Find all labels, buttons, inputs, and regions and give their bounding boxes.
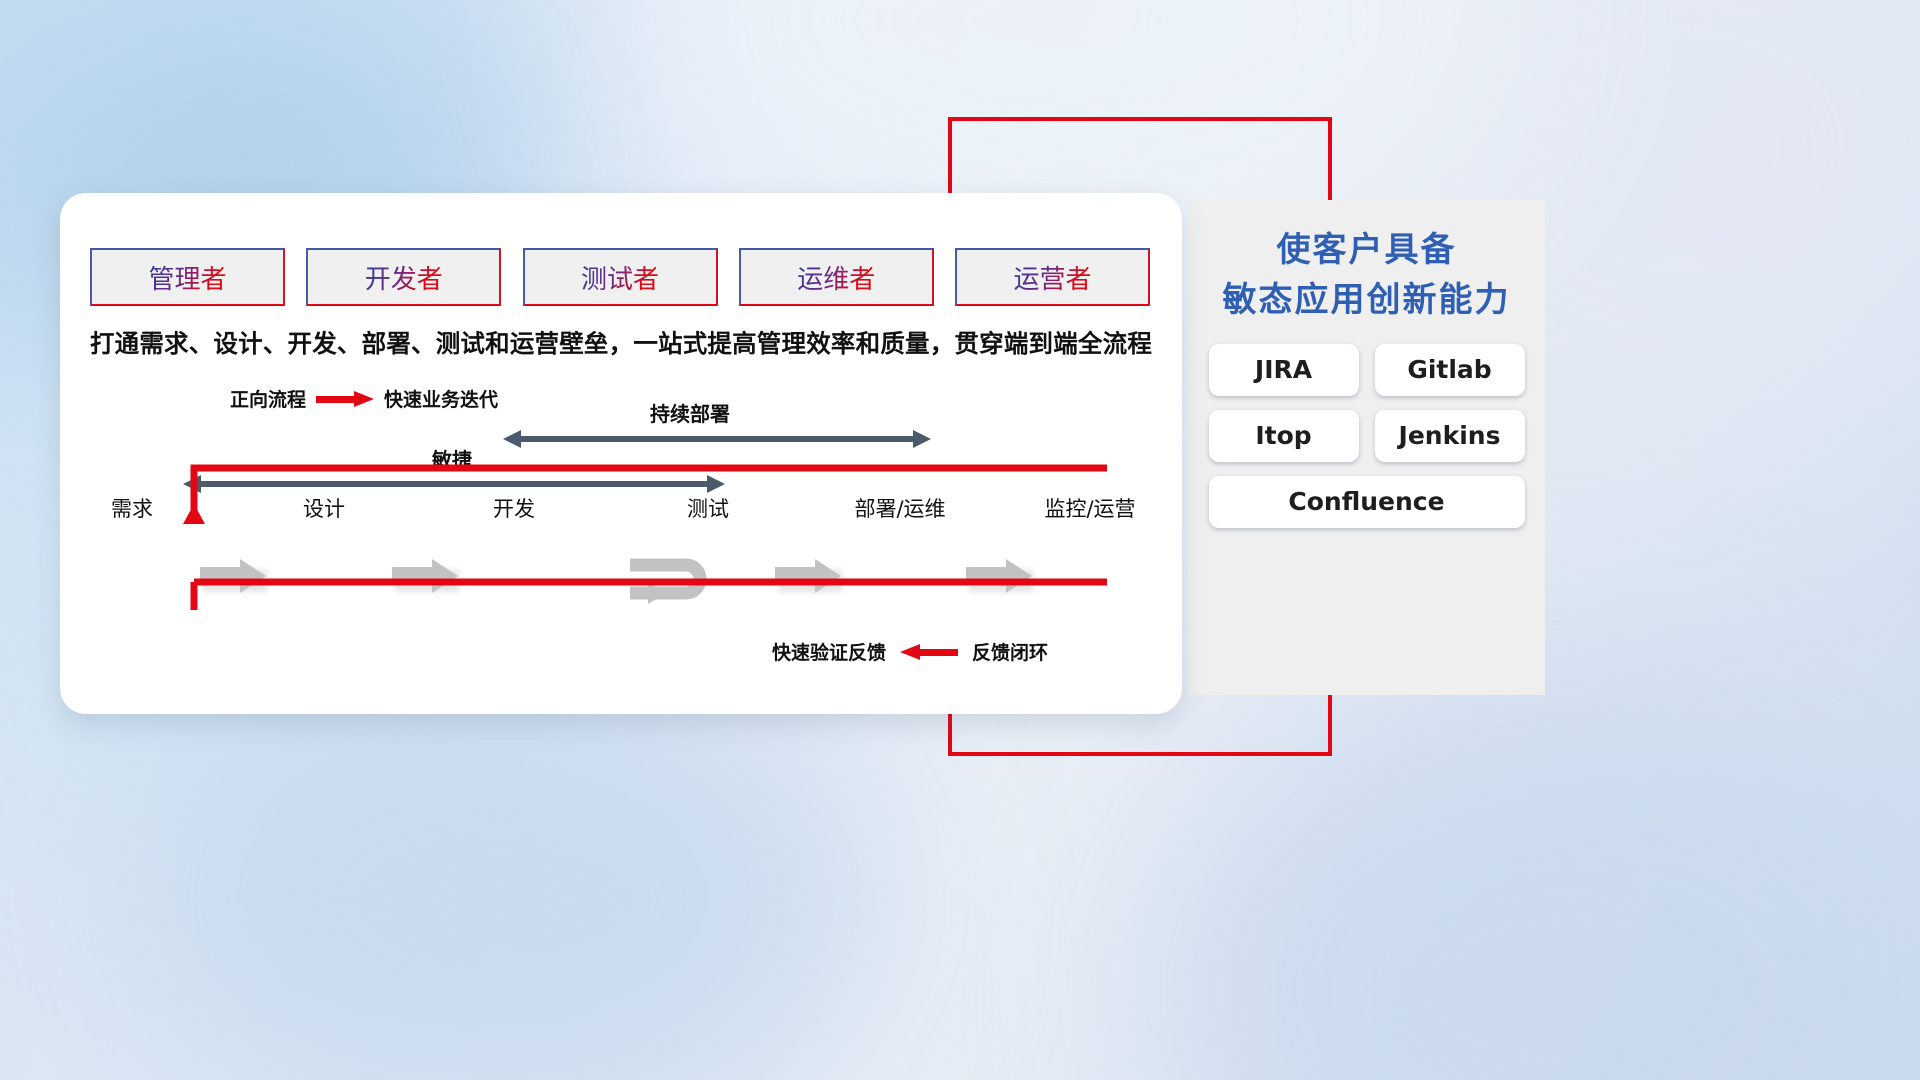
value-proposition-panel: 使客户具备 敏态应用创新能力 JIRA Gitlab Itop Jenkins … (1188, 200, 1545, 695)
feedback-result-label: 快速验证反馈 (772, 638, 886, 665)
feedback-source-label: 反馈闭环 (972, 638, 1048, 665)
iteration-loop-arrow-icon (628, 551, 724, 607)
role-badge-operator[interactable]: 运营者 (955, 248, 1150, 306)
arrow-right-gray-icon (200, 559, 270, 593)
tool-chip-itop[interactable]: Itop (1209, 410, 1359, 462)
role-badge-label: 运维者 (797, 259, 875, 296)
arrow-right-gray-icon (775, 559, 845, 593)
stage-design[interactable]: 设计 (264, 493, 384, 528)
role-badge-label: 测试者 (581, 259, 659, 296)
agile-arrow-icon (174, 475, 734, 493)
forward-flow-to-label: 快速业务迭代 (384, 385, 498, 412)
arrow-left-red-icon (900, 644, 958, 660)
stage-label: 监控/运营 (1030, 493, 1150, 523)
continuous-deployment-arrow-icon (494, 430, 940, 448)
stage-label: 需求 (72, 493, 192, 523)
stage-label: 部署/运维 (840, 493, 960, 523)
forward-flow-annotation: 正向流程 快速业务迭代 (230, 385, 498, 412)
arrow-head-right-icon (707, 475, 734, 493)
feedback-annotation: 快速验证反馈 反馈闭环 (772, 638, 1048, 665)
tool-chip-jira[interactable]: JIRA (1209, 344, 1359, 396)
role-badge-label: 开发者 (365, 259, 443, 296)
arrow-right-gray-icon (392, 559, 462, 593)
stage-requirements[interactable]: 需求 (72, 493, 192, 528)
role-badge-tester[interactable]: 测试者 (523, 248, 718, 306)
devops-flow-card: 管理者 开发者 测试者 运维者 运营者 打通需求、设计、开发、部署、测试和运营壁… (60, 193, 1182, 714)
arrow-head-right-icon (913, 430, 940, 448)
continuous-deployment-label: 持续部署 (650, 398, 730, 427)
stage-deploy-ops[interactable]: 部署/运维 (840, 493, 960, 528)
arrow-right-red-icon (316, 391, 374, 407)
arrow-right-gray-icon (966, 559, 1036, 593)
role-badge-manager[interactable]: 管理者 (90, 248, 285, 306)
forward-flow-from-label: 正向流程 (230, 385, 306, 412)
stage-development[interactable]: 开发 (454, 493, 574, 528)
tool-chip-grid: JIRA Gitlab Itop Jenkins Confluence (1204, 344, 1529, 528)
role-badge-row: 管理者 开发者 测试者 运维者 运营者 (90, 248, 1150, 306)
role-badge-label: 运营者 (1013, 259, 1091, 296)
agile-label: 敏捷 (432, 444, 472, 473)
role-badge-developer[interactable]: 开发者 (306, 248, 501, 306)
card-description: 打通需求、设计、开发、部署、测试和运营壁垒，一站式提高管理效率和质量，贯穿端到端… (60, 325, 1182, 360)
tool-chip-confluence[interactable]: Confluence (1209, 476, 1525, 528)
tool-chip-gitlab[interactable]: Gitlab (1375, 344, 1525, 396)
arrow-bar (190, 481, 718, 487)
stage-label: 测试 (648, 493, 768, 523)
tool-chip-jenkins[interactable]: Jenkins (1375, 410, 1525, 462)
stage-label: 设计 (264, 493, 384, 523)
arrow-bar (510, 436, 924, 442)
stage-monitor-operate[interactable]: 监控/运营 (1030, 493, 1150, 528)
panel-title-line-1: 使客户具备 (1188, 226, 1545, 274)
stage-row: 需求 设计 开发 测试 部署/运维 监控/运营 (60, 493, 1182, 613)
panel-title-line-2: 敏态应用创新能力 (1188, 274, 1545, 326)
role-badge-ops[interactable]: 运维者 (739, 248, 934, 306)
stage-testing[interactable]: 测试 (648, 493, 768, 528)
panel-title: 使客户具备 敏态应用创新能力 (1188, 200, 1545, 326)
role-badge-label: 管理者 (148, 259, 226, 296)
stage-label: 开发 (454, 493, 574, 523)
